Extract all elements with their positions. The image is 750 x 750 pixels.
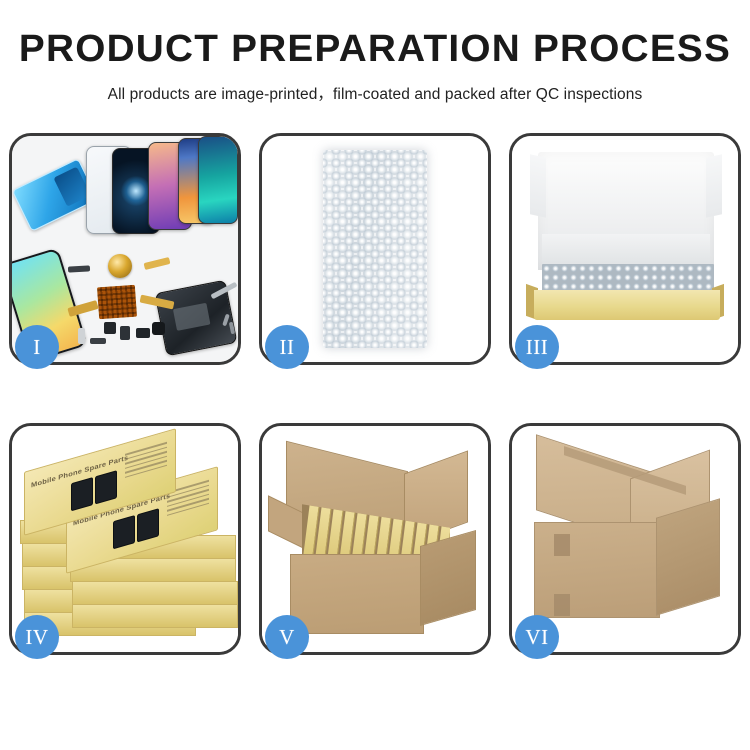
step-badge-3: III [515,325,559,369]
carton-side-panel-open [420,530,476,626]
bubble-wrap-sheen [323,150,427,348]
retail-box-edge-b4 [72,581,238,605]
process-step-3: III [509,133,741,365]
step-badge-2: II [265,325,309,369]
retail-box-phone-image-b2 [137,508,159,542]
carton-front-panel-open [290,554,424,634]
volume-button-part [90,338,106,344]
sealed-carton-side-panel [656,498,720,616]
mailer-box-bubble-contents [542,264,714,292]
side-button-part [78,328,85,344]
page-header: PRODUCT PREPARATION PROCESS All products… [0,0,750,104]
ic-chip-part-1 [104,322,116,334]
retail-box-phone-image-a1 [71,477,93,511]
step-badge-5: V [265,615,309,659]
ic-chip-part-2 [120,326,130,340]
flex-cable-part-c [144,257,171,270]
retail-box-edge-b5 [72,604,238,628]
step-badge-4: IV [15,615,59,659]
speaker-coil-part [108,254,132,278]
camera-module-part [152,322,165,335]
sealed-carton-label-lower [554,594,570,616]
mailer-box-foam-liner [542,234,710,268]
mailer-box-front-panel [534,290,720,320]
process-step-4: Mobile Phone Spare Parts Mobile Phone Sp… [9,423,241,655]
page-title: PRODUCT PREPARATION PROCESS [0,30,750,70]
chip-array-part [97,285,137,320]
step-badge-1: I [15,325,59,369]
page-subtitle: All products are image-printed，film-coat… [0,82,750,104]
retail-box-phone-image-a2 [113,515,135,549]
process-step-6: VI [509,423,741,655]
sealed-carton-label-upper [554,534,570,556]
process-step-1: I [9,133,241,365]
process-step-5: V [259,423,491,655]
retail-box-text-lines-back [125,442,167,481]
ic-chip-part-3 [136,328,150,338]
battery-connector-part [68,265,90,272]
process-step-2: II [259,133,491,365]
retail-box-phone-image-b1 [95,470,117,504]
step-badge-6: VI [515,615,559,659]
sealed-carton-front-panel [534,522,660,618]
phone-display-teal [198,136,238,224]
bubble-wrap-pouch [323,150,427,348]
process-step-grid: I II III [9,133,741,678]
